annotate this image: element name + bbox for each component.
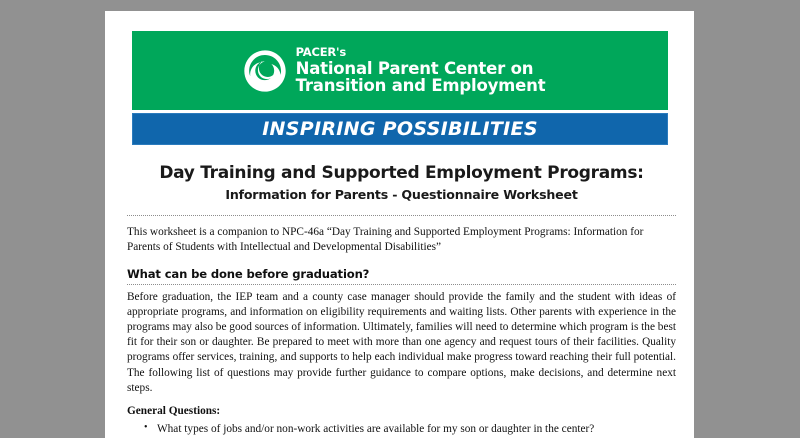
- section-paragraph: Before graduation, the IEP team and a co…: [127, 290, 676, 396]
- divider-section: [127, 284, 676, 285]
- page-subtitle: Information for Parents - Questionnaire …: [137, 187, 666, 203]
- tagline-banner: INSPIRING POSSIBILITIES: [132, 113, 668, 145]
- subheading-general-questions: General Questions:: [127, 405, 676, 417]
- general-questions-list: What types of jobs and/or non-work activ…: [127, 422, 676, 437]
- document-content: Day Training and Supported Employment Pr…: [127, 153, 676, 438]
- brand-line-pacers: PACER's: [296, 46, 546, 58]
- pacer-swirl-logo-icon: [243, 49, 287, 93]
- brand-line-center: National Parent Center on: [296, 60, 546, 77]
- list-item: What types of jobs and/or non-work activ…: [157, 422, 676, 437]
- divider-top: [127, 215, 676, 216]
- page-title: Day Training and Supported Employment Pr…: [137, 163, 666, 184]
- section-heading-before-graduation: What can be done before graduation?: [127, 267, 676, 281]
- masthead-content: PACER's National Parent Center on Transi…: [243, 46, 546, 94]
- document-page: PACER's National Parent Center on Transi…: [105, 11, 694, 438]
- lead-paragraph: This worksheet is a companion to NPC-46a…: [127, 225, 676, 255]
- brand-line-transition: Transition and Employment: [296, 77, 546, 94]
- brand-text-block: PACER's National Parent Center on Transi…: [296, 46, 546, 94]
- masthead-banner: PACER's National Parent Center on Transi…: [132, 31, 668, 110]
- tagline-text: INSPIRING POSSIBILITIES: [262, 118, 538, 140]
